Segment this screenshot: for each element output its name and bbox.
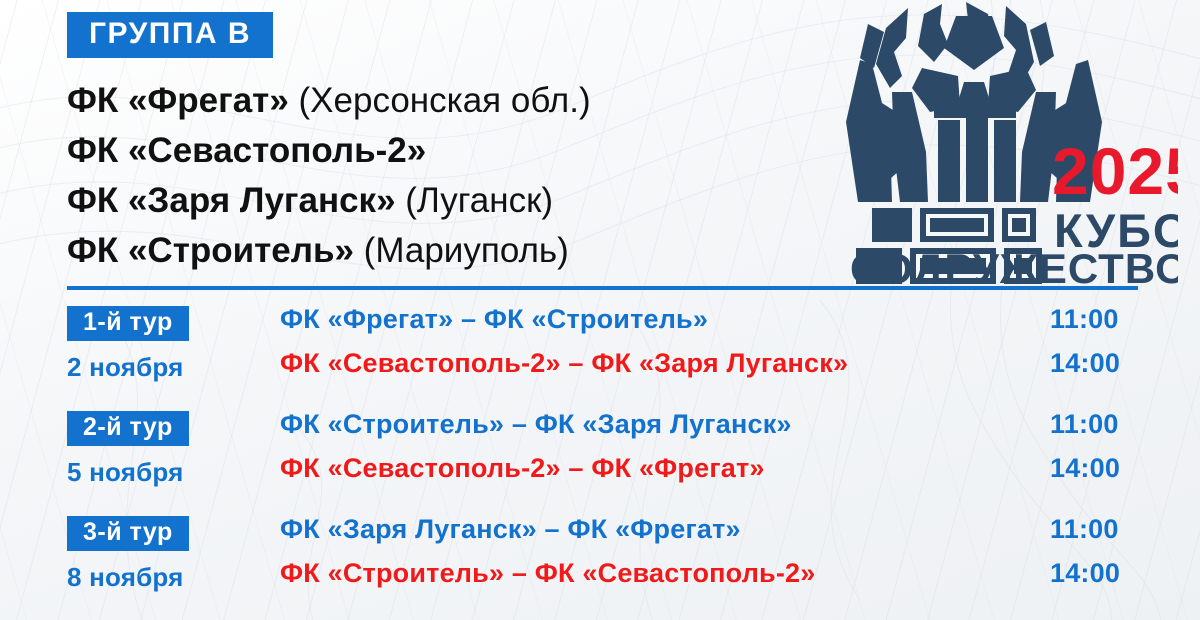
match-teams: ФК «Севастополь-2» – ФК «Заря Луганск» [280,348,848,379]
match-row: ФК «Севастополь-2» – ФК «Заря Луганск» 1… [280,348,1180,390]
match-away-team: ФК «Севастополь-2» [535,558,816,588]
round-tag: 3-й тур [67,516,189,551]
tournament-group-poster: ГРУППА B ФК «Фрегат» (Херсонская обл.) Ф… [0,0,1200,620]
match-home-team: ФК «Заря Луганск» [280,514,537,544]
match-away-team: ФК «Фрегат» [567,514,740,544]
team-name: ФК «Строитель» [67,231,354,270]
match-home-team: ФК «Фрегат» [280,304,453,334]
match-row: ФК «Строитель» – ФК «Заря Луганск» 11:00 [280,409,1180,451]
match-time: 11:00 [1050,304,1119,335]
match-home-team: ФК «Строитель» [280,409,504,439]
team-list-item: ФК «Фрегат» (Херсонская обл.) [67,76,827,126]
match-dash: – [561,453,592,483]
match-time: 11:00 [1050,514,1119,545]
match-away-team: ФК «Заря Луганск» [591,348,848,378]
emblem-year-text: 2025 [1052,134,1178,208]
tournament-emblem: 2025 КУБОК СОДРУЖЕСТВО 2025 КУБОК СОДРУЖ… [838,2,1178,284]
match-row: ФК «Фрегат» – ФК «Строитель» 11:00 [280,304,1180,346]
match-home-team: ФК «Севастополь-2» [280,348,561,378]
match-dash: – [504,409,535,439]
match-time: 14:00 [1050,348,1120,379]
round-date: 2 ноября [67,352,183,383]
round-date: 5 ноября [67,457,183,488]
round-tag: 1-й тур [67,306,189,341]
match-schedule: 1-й тур 2 ноября ФК «Фрегат» – ФК «Строи… [0,300,1200,610]
schedule-round: 3-й тур 8 ноября ФК «Заря Луганск» – ФК … [0,510,1200,610]
round-tag: 2-й тур [67,411,189,446]
match-home-team: ФК «Строитель» [280,558,504,588]
team-name: ФК «Севастополь-2» [67,131,426,170]
team-city: (Мариуполь) [354,231,569,270]
group-badge: ГРУППА B [67,12,273,58]
match-row: ФК «Заря Луганск» – ФК «Фрегат» 11:00 [280,514,1180,556]
match-teams: ФК «Фрегат» – ФК «Строитель» [280,304,708,335]
match-row: ФК «Севастополь-2» – ФК «Фрегат» 14:00 [280,453,1180,495]
match-away-team: ФК «Заря Луганск» [535,409,792,439]
match-dash: – [537,514,568,544]
match-home-team: ФК «Севастополь-2» [280,453,561,483]
trophy-cup-icon: 2025 КУБОК СОДРУЖЕСТВО [838,2,1178,284]
team-city: (Луганск) [396,181,554,220]
match-teams: ФК «Севастополь-2» – ФК «Фрегат» [280,453,765,484]
match-teams: ФК «Строитель» – ФК «Севастополь-2» [280,558,815,589]
match-away-team: ФК «Строитель» [484,304,708,334]
match-row: ФК «Строитель» – ФК «Севастополь-2» 14:0… [280,558,1180,600]
team-list-item: ФК «Заря Луганск» (Луганск) [67,176,827,226]
team-list-item: ФК «Строитель» (Мариуполь) [67,226,827,276]
match-dash: – [561,348,592,378]
match-teams: ФК «Заря Луганск» – ФК «Фрегат» [280,514,741,545]
match-time: 14:00 [1050,453,1120,484]
schedule-round: 2-й тур 5 ноября ФК «Строитель» – ФК «За… [0,405,1200,510]
round-date: 8 ноября [67,562,183,593]
section-divider [67,286,1138,290]
team-name: ФК «Фрегат» [67,81,289,120]
match-time: 11:00 [1050,409,1119,440]
match-time: 14:00 [1050,558,1120,589]
team-list-item: ФК «Севастополь-2» [67,126,827,176]
match-away-team: ФК «Фрегат» [591,453,764,483]
match-dash: – [504,558,535,588]
schedule-round: 1-й тур 2 ноября ФК «Фрегат» – ФК «Строи… [0,300,1200,405]
emblem-title-line2: СОДРУЖЕСТВО [850,245,1178,284]
team-list: ФК «Фрегат» (Херсонская обл.) ФК «Севаст… [67,76,827,276]
match-teams: ФК «Строитель» – ФК «Заря Луганск» [280,409,792,440]
match-dash: – [453,304,484,334]
team-name: ФК «Заря Луганск» [67,181,396,220]
team-city: (Херсонская обл.) [289,81,591,120]
